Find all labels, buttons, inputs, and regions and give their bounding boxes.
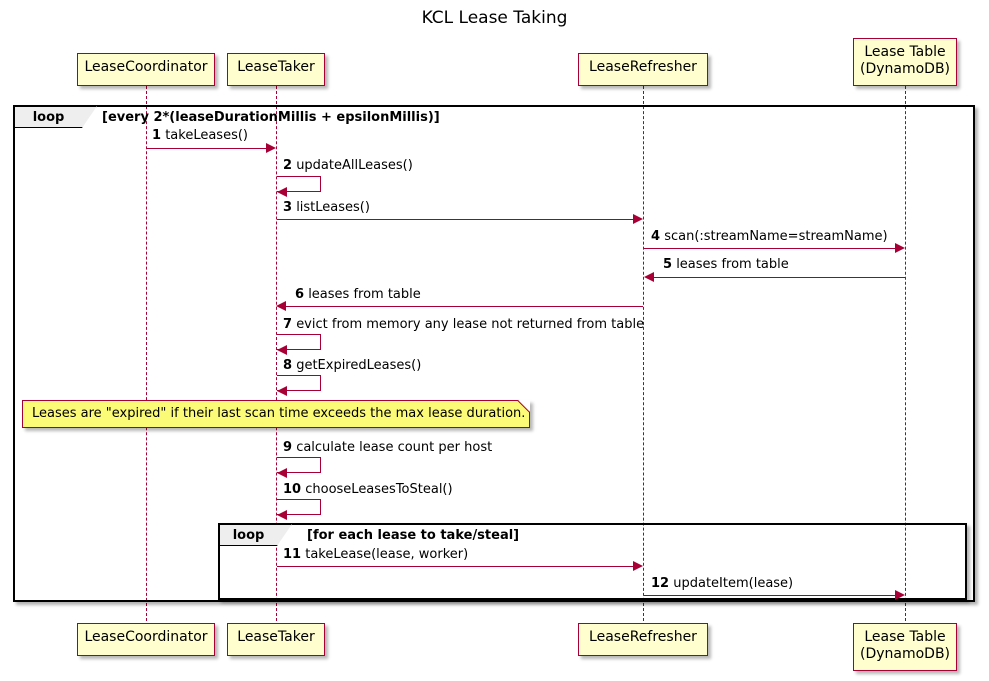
group-outer-loop-keyword: loop <box>15 107 97 128</box>
message-5-arrow <box>654 277 905 278</box>
message-12-arrow <box>644 595 896 596</box>
message-3-text: listLeases() <box>296 200 370 215</box>
participant-lease-refresher-top[interactable]: LeaseRefresher <box>578 53 708 86</box>
message-6-arrowhead <box>276 301 286 311</box>
message-7-arrowhead <box>277 345 287 355</box>
group-outer-loop-condition: [every 2*(leaseDurationMillis + epsilonM… <box>102 110 440 125</box>
message-8-arrowhead <box>277 386 287 396</box>
participant-lease-table-top-label2: (DynamoDB) <box>860 61 950 77</box>
message-11-label: 11 takeLease(lease, worker) <box>283 547 468 562</box>
message-1-number: 1 <box>152 128 161 143</box>
participant-lease-taker-top[interactable]: LeaseTaker <box>227 53 325 86</box>
participant-lease-taker-bottom-label: LeaseTaker <box>237 629 314 645</box>
message-1-text: takeLeases() <box>165 128 248 143</box>
message-12-arrowhead <box>895 590 905 600</box>
message-1-arrow <box>147 148 267 149</box>
message-7-number: 7 <box>283 317 292 332</box>
message-12-text: updateItem(lease) <box>673 576 793 591</box>
message-3-arrowhead <box>633 214 643 224</box>
message-4-text: scan(:streamName=streamName) <box>664 229 887 244</box>
participant-lease-coordinator-bottom[interactable]: LeaseCoordinator <box>77 623 215 656</box>
message-8-label: 8 getExpiredLeases() <box>283 358 421 373</box>
message-10-text: chooseLeasesToSteal() <box>305 482 452 497</box>
message-11-number: 11 <box>283 547 301 562</box>
message-6-arrow <box>286 306 643 307</box>
sequence-diagram-canvas: KCL Lease Taking loop [every 2*(leaseDur… <box>0 0 989 681</box>
participant-lease-table-top[interactable]: Lease Table (DynamoDB) <box>853 38 957 86</box>
note-expired-leases: Leases are "expired" if their last scan … <box>22 400 530 428</box>
message-7-label: 7 evict from memory any lease not return… <box>283 317 644 332</box>
message-4-arrow <box>644 248 896 249</box>
message-5-label: 5 leases from table <box>663 257 789 272</box>
participant-lease-taker-bottom[interactable]: LeaseTaker <box>227 623 325 656</box>
message-5-arrowhead <box>644 272 654 282</box>
message-9-number: 9 <box>283 440 292 455</box>
message-1-arrowhead <box>266 143 276 153</box>
message-2-arrowhead <box>277 187 287 197</box>
message-9-text: calculate lease count per host <box>296 440 492 455</box>
message-2-number: 2 <box>283 158 292 173</box>
message-12-label: 12 updateItem(lease) <box>651 576 793 591</box>
message-4-label: 4 scan(:streamName=streamName) <box>651 229 888 244</box>
message-3-label: 3 listLeases() <box>283 200 370 215</box>
message-6-label: 6 leases from table <box>295 287 421 302</box>
message-5-number: 5 <box>663 257 672 272</box>
participant-lease-table-bottom[interactable]: Lease Table (DynamoDB) <box>853 623 957 671</box>
message-6-text: leases from table <box>308 287 421 302</box>
message-11-arrowhead <box>633 561 643 571</box>
participant-lease-coordinator-bottom-label: LeaseCoordinator <box>84 629 207 645</box>
message-11-text: takeLease(lease, worker) <box>305 547 468 562</box>
group-inner-loop-condition: [for each lease to take/steal] <box>307 528 519 543</box>
participant-lease-taker-top-label: LeaseTaker <box>237 59 314 75</box>
message-3-number: 3 <box>283 200 292 215</box>
message-3-arrow <box>277 219 634 220</box>
message-8-number: 8 <box>283 358 292 373</box>
page-title: KCL Lease Taking <box>0 8 989 28</box>
participant-lease-table-top-label: Lease Table <box>864 44 945 60</box>
message-2-text: updateAllLeases() <box>296 158 413 173</box>
message-11-arrow <box>277 566 634 567</box>
message-4-arrowhead <box>895 243 905 253</box>
message-10-number: 10 <box>283 482 301 497</box>
message-6-number: 6 <box>295 287 304 302</box>
group-inner-loop-keyword: loop <box>220 525 292 546</box>
participant-lease-coordinator-top[interactable]: LeaseCoordinator <box>77 53 215 86</box>
message-10-label: 10 chooseLeasesToSteal() <box>283 482 453 497</box>
message-9-arrowhead <box>277 468 287 478</box>
participant-lease-coordinator-top-label: LeaseCoordinator <box>84 59 207 75</box>
message-2-label: 2 updateAllLeases() <box>283 158 413 173</box>
message-1-label: 1 takeLeases() <box>152 128 248 143</box>
message-10-arrowhead <box>277 510 287 520</box>
message-5-text: leases from table <box>676 257 789 272</box>
message-4-number: 4 <box>651 229 660 244</box>
message-9-label: 9 calculate lease count per host <box>283 440 492 455</box>
participant-lease-table-bottom-label: Lease Table <box>864 629 945 645</box>
participant-lease-refresher-top-label: LeaseRefresher <box>589 59 697 75</box>
participant-lease-table-bottom-label2: (DynamoDB) <box>860 646 950 662</box>
participant-lease-refresher-bottom[interactable]: LeaseRefresher <box>578 623 708 656</box>
message-8-text: getExpiredLeases() <box>296 358 421 373</box>
participant-lease-refresher-bottom-label: LeaseRefresher <box>589 629 697 645</box>
message-12-number: 12 <box>651 576 669 591</box>
message-7-text: evict from memory any lease not returned… <box>296 317 644 332</box>
